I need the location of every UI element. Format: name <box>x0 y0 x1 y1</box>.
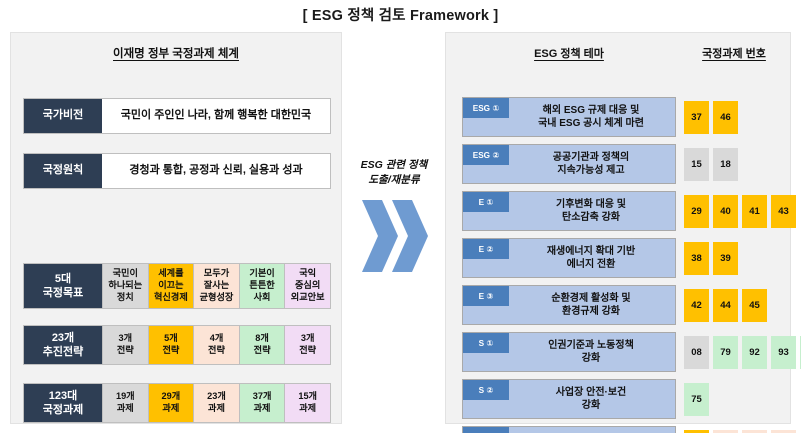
task-number-box[interactable]: 44 <box>713 289 738 322</box>
column-header-theme: ESG 정책 테마 <box>464 45 674 61</box>
double-chevron-arrow-icon <box>356 196 436 276</box>
matrix-cell: 국익중심의외교안보 <box>284 264 330 308</box>
theme-label: 재생에너지 확대 기반에너지 전환 <box>463 239 675 277</box>
bar-national-vision: 국가비전 국민이 주인인 나라, 함께 행복한 대한민국 <box>23 98 331 134</box>
theme-label: 해외 ESG 규제 대응 및국내 ESG 공시 체계 마련 <box>463 98 675 136</box>
theme-row[interactable]: S ③소비자·중소기업권익 보호 <box>462 426 676 433</box>
matrix-cell: 4개전략 <box>193 326 239 364</box>
theme-label: 소비자·중소기업권익 보호 <box>463 427 675 433</box>
theme-label: 인권기준과 노동정책강화 <box>463 333 675 371</box>
theme-label: 순환경제 활성화 및환경규제 강화 <box>463 286 675 324</box>
task-number-group: 75 <box>684 379 709 419</box>
matrix-cell: 모두가잘사는균형성장 <box>193 264 239 308</box>
task-number-box[interactable]: 25 <box>684 430 709 433</box>
matrix-cell: 세계를이끄는혁신경제 <box>148 264 194 308</box>
matrix-cell: 3개전략 <box>102 326 148 364</box>
bar-value: 국민이 주인인 나라, 함께 행복한 대한민국 <box>102 99 330 133</box>
matrix-cell: 29개과제 <box>148 384 194 422</box>
task-number-box[interactable]: 92 <box>742 336 767 369</box>
left-panel: 이재명 정부 국정과제 체계 국가비전 국민이 주인인 나라, 함께 행복한 대… <box>10 32 342 424</box>
bar-value: 경청과 통합, 공정과 신뢰, 실용과 성과 <box>102 154 330 188</box>
matrix-row-label: 123대국정과제 <box>24 384 102 422</box>
task-number-group: 3746 <box>684 97 738 137</box>
matrix-row-label: 5대국정목표 <box>24 264 102 308</box>
matrix-cell: 23개과제 <box>193 384 239 422</box>
matrix-row-strategies: 23개추진전략3개전략5개전략4개전략8개전략3개전략 <box>23 325 331 365</box>
matrix-cell: 37개과제 <box>239 384 285 422</box>
task-number-box[interactable]: 15 <box>684 148 709 181</box>
matrix-row-goals: 5대국정목표국민이하나되는정치세계를이끄는혁신경제모두가잘사는균형성장기본이튼튼… <box>23 263 331 309</box>
task-number-box[interactable]: 43 <box>771 195 796 228</box>
matrix-row-tasks: 123대국정과제19개과제29개과제23개과제37개과제15개과제 <box>23 383 331 423</box>
left-panel-heading: 이재명 정부 국정과제 체계 <box>11 45 341 61</box>
task-number-box[interactable]: 40 <box>713 195 738 228</box>
bar-governing-principle: 국정원칙 경청과 통합, 공정과 신뢰, 실용과 성과 <box>23 153 331 189</box>
task-number-box[interactable]: 39 <box>713 242 738 275</box>
column-header-task-number: 국정과제 번호 <box>684 45 784 61</box>
matrix-cell: 15개과제 <box>284 384 330 422</box>
task-number-box[interactable]: 75 <box>684 383 709 416</box>
matrix-cell: 국민이하나되는정치 <box>102 264 148 308</box>
task-number-box[interactable]: 45 <box>742 289 767 322</box>
task-number-box[interactable]: 65 <box>713 430 738 433</box>
task-number-box[interactable]: 42 <box>684 289 709 322</box>
theme-row[interactable]: S ②사업장 안전·보건강화 <box>462 379 676 419</box>
task-number-group: 25656667 <box>684 426 796 433</box>
task-number-group: 1518 <box>684 144 738 184</box>
theme-label: 공공기관과 정책의지속가능성 제고 <box>463 145 675 183</box>
bar-label: 국정원칙 <box>24 154 102 188</box>
matrix-cell: 19개과제 <box>102 384 148 422</box>
task-number-box[interactable]: 79 <box>713 336 738 369</box>
right-panel: ESG 정책 테마 국정과제 번호 ESG ①해외 ESG 규제 대응 및국내 … <box>445 32 791 424</box>
task-number-box[interactable]: 18 <box>713 148 738 181</box>
theme-row[interactable]: ESG ②공공기관과 정책의지속가능성 제고 <box>462 144 676 184</box>
matrix-cell: 5개전략 <box>148 326 194 364</box>
theme-row[interactable]: S ①인권기준과 노동정책강화 <box>462 332 676 372</box>
task-number-box[interactable]: 29 <box>684 195 709 228</box>
theme-row[interactable]: E ③순환경제 활성화 및환경규제 강화 <box>462 285 676 325</box>
theme-row[interactable]: E ②재생에너지 확대 기반에너지 전환 <box>462 238 676 278</box>
task-number-box[interactable]: 37 <box>684 101 709 134</box>
task-number-group: 424445 <box>684 285 767 325</box>
task-number-box[interactable]: 41 <box>742 195 767 228</box>
task-number-box[interactable]: 08 <box>684 336 709 369</box>
task-number-box[interactable]: 66 <box>742 430 767 433</box>
framework-diagram: [ ESG 정책 검토 Framework ] 이재명 정부 국정과제 체계 국… <box>0 0 801 433</box>
task-number-group: 08799293949597 <box>684 332 801 372</box>
task-number-group: 29404143 <box>684 191 796 231</box>
matrix-cell: 기본이튼튼한사회 <box>239 264 285 308</box>
task-number-group: 3839 <box>684 238 738 278</box>
task-number-box[interactable]: 38 <box>684 242 709 275</box>
theme-label: 기후변화 대응 및탄소감축 강화 <box>463 192 675 230</box>
page-title: [ ESG 정책 검토 Framework ] <box>0 4 801 25</box>
task-number-box[interactable]: 67 <box>771 430 796 433</box>
middle-caption: ESG 관련 정책도출/재분류 <box>344 158 444 188</box>
bar-label: 국가비전 <box>24 99 102 133</box>
matrix-cell: 3개전략 <box>284 326 330 364</box>
task-number-box[interactable]: 93 <box>771 336 796 369</box>
theme-row[interactable]: E ①기후변화 대응 및탄소감축 강화 <box>462 191 676 231</box>
task-number-box[interactable]: 46 <box>713 101 738 134</box>
theme-row[interactable]: ESG ①해외 ESG 규제 대응 및국내 ESG 공시 체계 마련 <box>462 97 676 137</box>
theme-label: 사업장 안전·보건강화 <box>463 380 675 418</box>
matrix-row-label: 23개추진전략 <box>24 326 102 364</box>
matrix-cell: 8개전략 <box>239 326 285 364</box>
